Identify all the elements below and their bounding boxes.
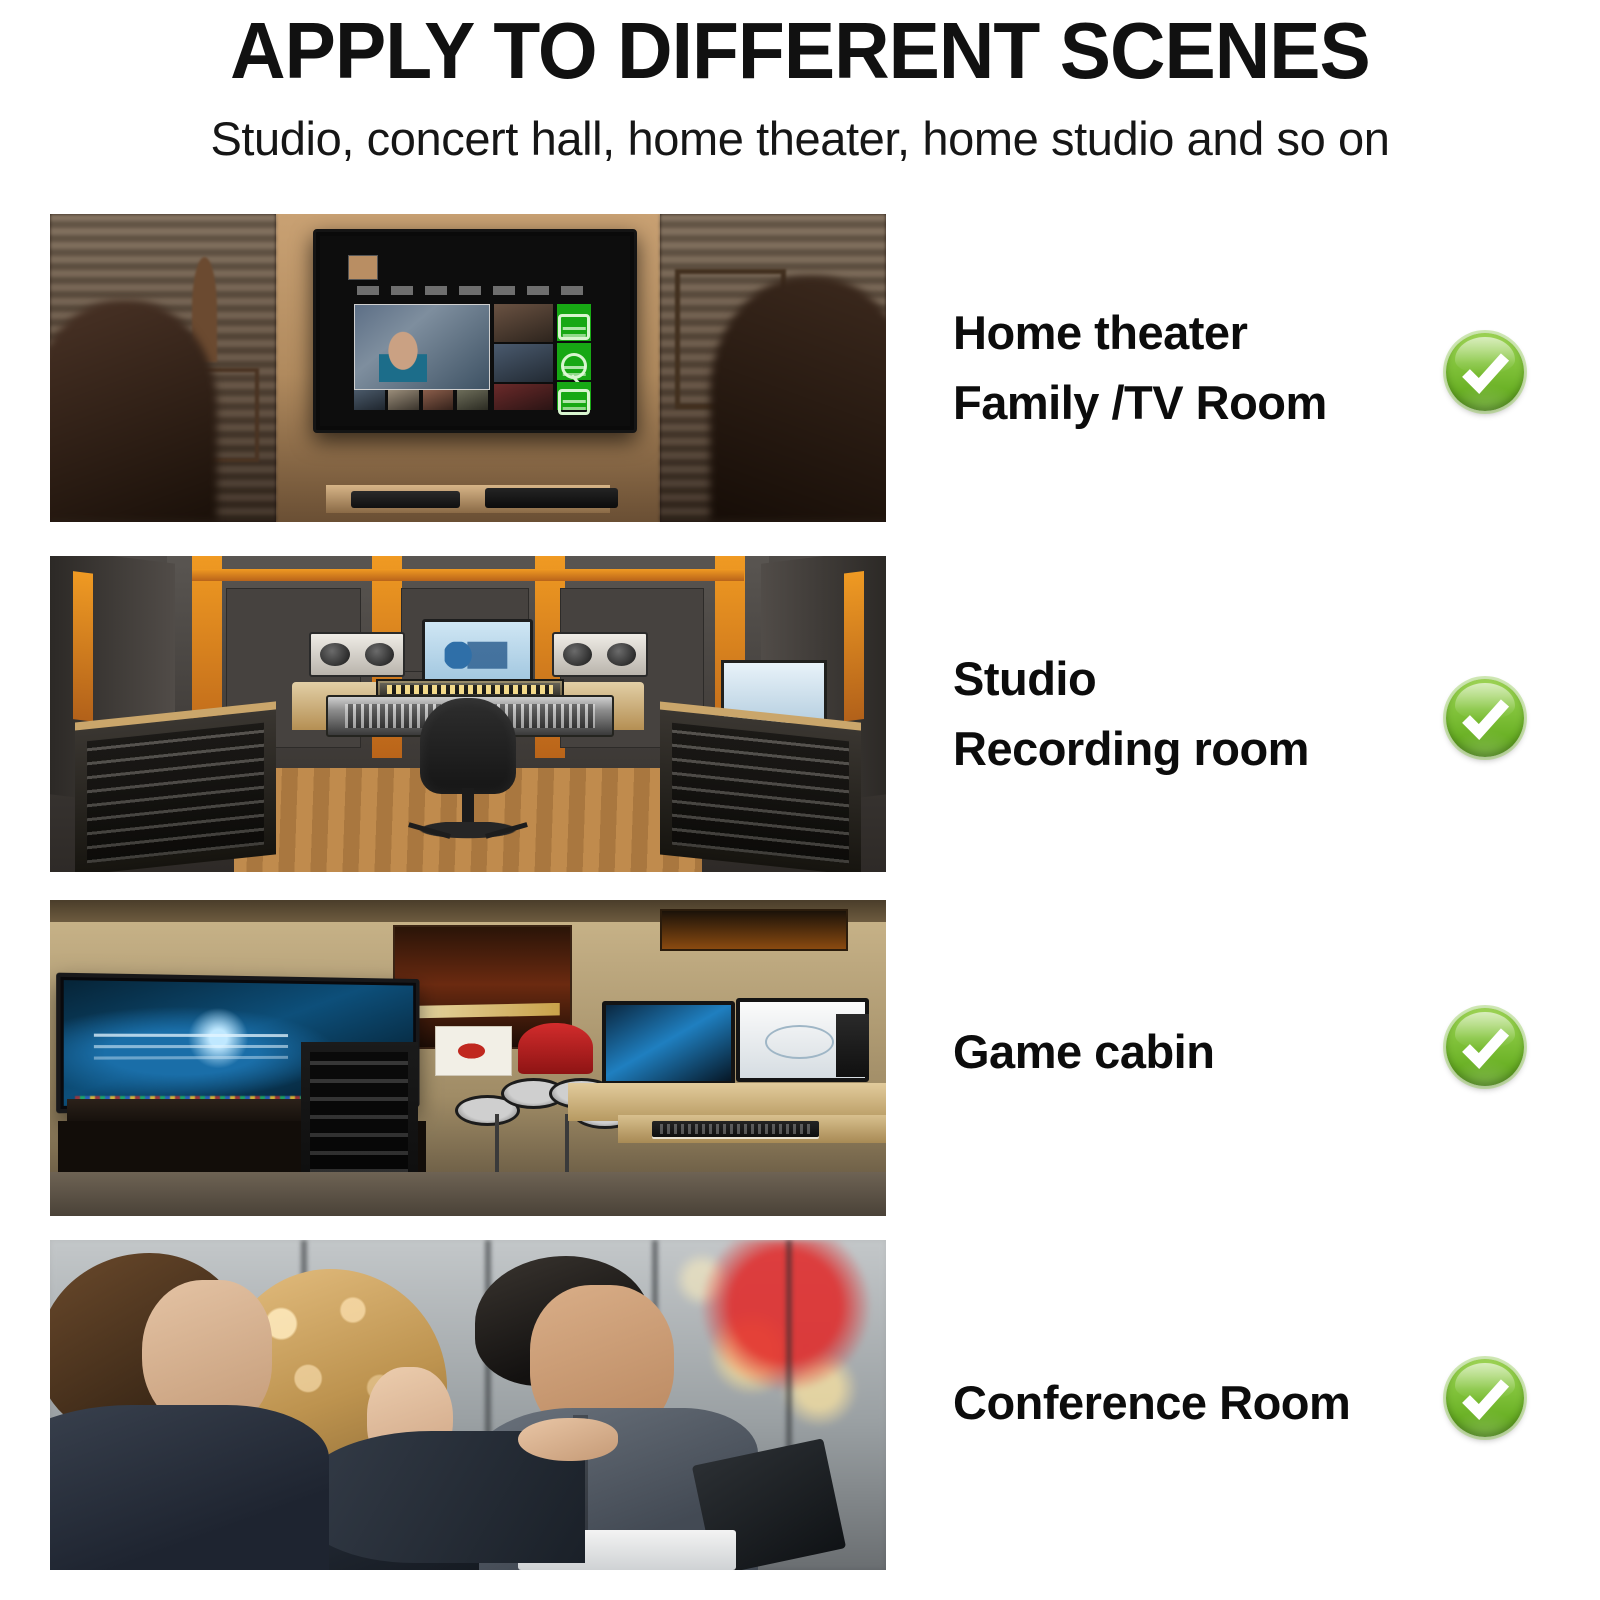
equipment-rack-left <box>75 702 276 872</box>
conference-illustration <box>50 1240 886 1570</box>
dashboard-hero-tile <box>354 304 489 389</box>
page-subtitle: Studio, concert hall, home theater, home… <box>0 110 1600 168</box>
kinect-sensor <box>351 491 460 508</box>
scene-label-game-cabin: Game cabin <box>953 1017 1453 1087</box>
television <box>313 229 637 432</box>
keyboard <box>652 1121 819 1137</box>
dashboard-green-tile <box>557 304 591 341</box>
check-mark-glyph <box>1446 1359 1524 1437</box>
desk-speaker <box>836 1014 869 1077</box>
scene-row-conference: Conference Room <box>0 1240 1600 1572</box>
tv-screen <box>320 236 630 425</box>
studio-speaker-left <box>309 632 405 677</box>
dashboard-tile <box>494 344 553 382</box>
dashboard-search-tile <box>557 343 591 380</box>
green-check-icon <box>1446 333 1524 411</box>
check-mark-glyph <box>1446 333 1524 411</box>
scene-row-studio: Studio Recording room <box>0 556 1600 874</box>
scene-row-game-cabin: Game cabin <box>0 900 1600 1218</box>
studio-chair <box>397 698 539 843</box>
dashboard-tile <box>423 390 454 411</box>
dashboard-tile <box>494 384 553 410</box>
scene-label-line: Home theater <box>953 298 1453 368</box>
check-mark-glyph <box>1446 1008 1524 1086</box>
green-check-icon <box>1446 1359 1524 1437</box>
scene-photo-game-cabin <box>50 900 886 1216</box>
game-cabin-illustration <box>50 900 886 1216</box>
page-title: APPLY TO DIFFERENT SCENES <box>32 8 1568 94</box>
poster-title-band <box>405 1003 559 1019</box>
dashboard-tile <box>354 390 385 411</box>
dashboard-tile <box>457 390 488 411</box>
studio-illustration <box>50 556 886 872</box>
game-console <box>485 488 619 508</box>
dashboard-avatar <box>348 255 378 280</box>
scene-label-conference: Conference Room <box>953 1368 1453 1438</box>
pointing-hand <box>518 1418 618 1461</box>
dashboard-tile <box>388 390 419 411</box>
green-check-icon <box>1446 679 1524 757</box>
blazer <box>50 1405 329 1570</box>
studio-speaker-right <box>552 632 648 677</box>
viewer-silhouette-left <box>50 300 217 522</box>
dashboard-tile <box>494 304 553 342</box>
scene-photo-conference <box>50 1240 886 1570</box>
infographic-page: APPLY TO DIFFERENT SCENES Studio, concer… <box>0 0 1600 1600</box>
scene-photo-home-theater <box>50 214 886 522</box>
scene-photo-studio <box>50 556 886 872</box>
check-mark-glyph <box>1446 679 1524 757</box>
chair-back <box>420 698 517 794</box>
person-man-left <box>50 1240 301 1570</box>
home-theater-illustration <box>50 214 886 522</box>
scene-row-home-theater: Home theater Family /TV Room <box>0 214 1600 524</box>
scene-label-studio: Studio Recording room <box>953 644 1453 784</box>
carpet-floor <box>50 1172 886 1216</box>
chair-stem <box>462 788 473 826</box>
scene-label-line: Game cabin <box>953 1017 1453 1087</box>
equipment-rack-right <box>660 702 861 872</box>
acoustic-accent-top <box>192 569 744 582</box>
scene-label-line: Conference Room <box>953 1368 1453 1438</box>
movie-poster-secondary <box>660 909 848 951</box>
scene-label-line: Family /TV Room <box>953 368 1453 438</box>
scene-label-line: Recording room <box>953 714 1453 784</box>
scene-label-line: Studio <box>953 644 1453 714</box>
scene-label-home-theater: Home theater Family /TV Room <box>953 298 1453 438</box>
chair-base <box>405 822 530 841</box>
viewer-silhouette-right <box>710 276 886 522</box>
dashboard-green-tile <box>557 382 591 410</box>
dashboard-tabs <box>357 286 592 295</box>
green-check-icon <box>1446 1008 1524 1086</box>
desk-monitor-left <box>602 1001 735 1085</box>
